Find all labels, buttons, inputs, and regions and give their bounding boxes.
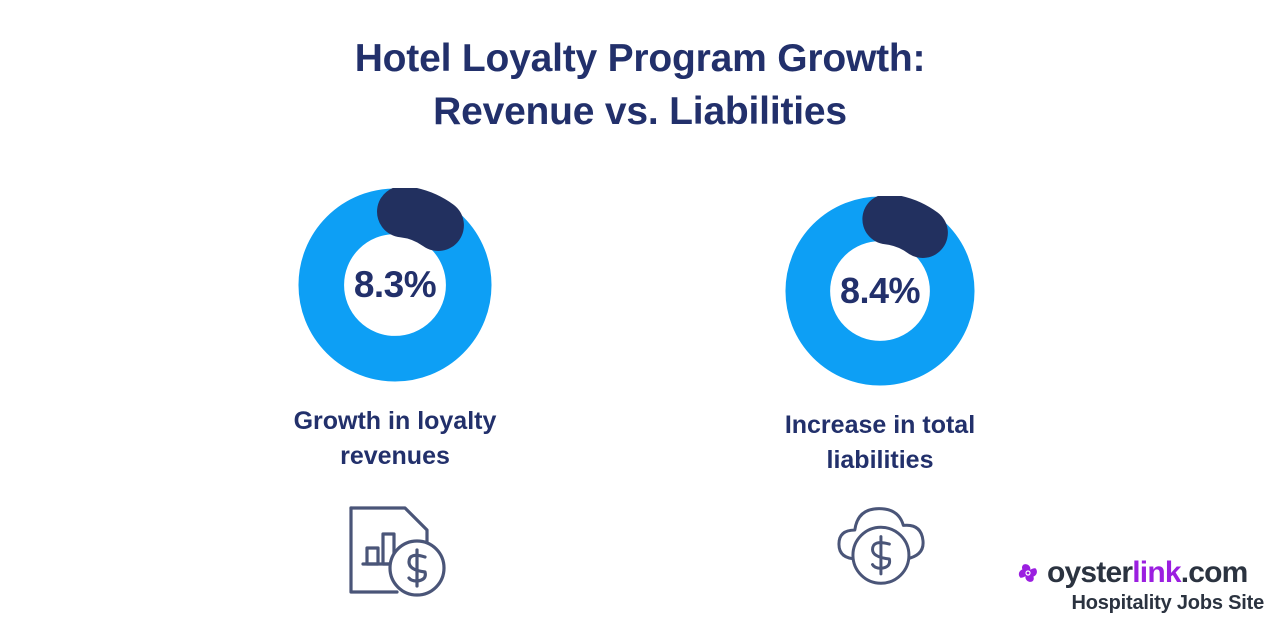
infographic-canvas: Hotel Loyalty Program Growth: Revenue vs… [0,0,1280,640]
stat-label-line-1: Increase in total [725,408,1035,443]
stat-label-total-liabilities: Increase in total liabilities [725,408,1035,478]
donut-value-label: 8.4% [785,196,975,386]
logo-wordmark-row: oysterlink.com [1016,558,1266,588]
oyster-shell-svg [1016,561,1040,585]
logo-word-dotcom: .com [1181,556,1248,589]
donut-chart-loyalty-revenues: 8.3% [298,188,492,382]
logo-word-link: link [1132,556,1180,589]
donut-value-label: 8.3% [298,188,492,382]
page-title: Hotel Loyalty Program Growth: Revenue vs… [0,32,1280,138]
stat-label-loyalty-revenues: Growth in loyalty revenues [235,404,555,474]
document-chart-dollar-svg [335,496,455,606]
shell-pearl-core [1027,572,1030,575]
bar-chart-bar-short [367,548,378,564]
stat-label-line-1: Growth in loyalty [235,404,555,439]
page-title-line-1: Hotel Loyalty Program Growth: [0,32,1280,85]
logo-word-oyster: oyster [1047,556,1132,589]
cloud-dollar-svg [824,494,936,596]
oyster-shell-icon [1016,561,1040,585]
document-chart-dollar-icon [335,496,455,606]
donut-chart-total-liabilities: 8.4% [785,196,975,386]
stat-block-loyalty-revenues: 8.3% Growth in loyalty revenues [235,188,555,606]
stat-label-line-2: revenues [235,439,555,474]
stat-label-line-2: liabilities [725,443,1035,478]
document-outline-left [351,508,397,592]
oysterlink-logo[interactable]: oysterlink.com Hospitality Jobs Site [1016,558,1266,615]
logo-tagline: Hospitality Jobs Site [1016,592,1266,615]
cloud-dollar-icon [824,494,936,596]
logo-wordmark: oysterlink.com [1047,558,1248,588]
page-title-line-2: Revenue vs. Liabilities [0,85,1280,138]
stat-block-total-liabilities: 8.4% Increase in total liabilities [725,196,1035,596]
